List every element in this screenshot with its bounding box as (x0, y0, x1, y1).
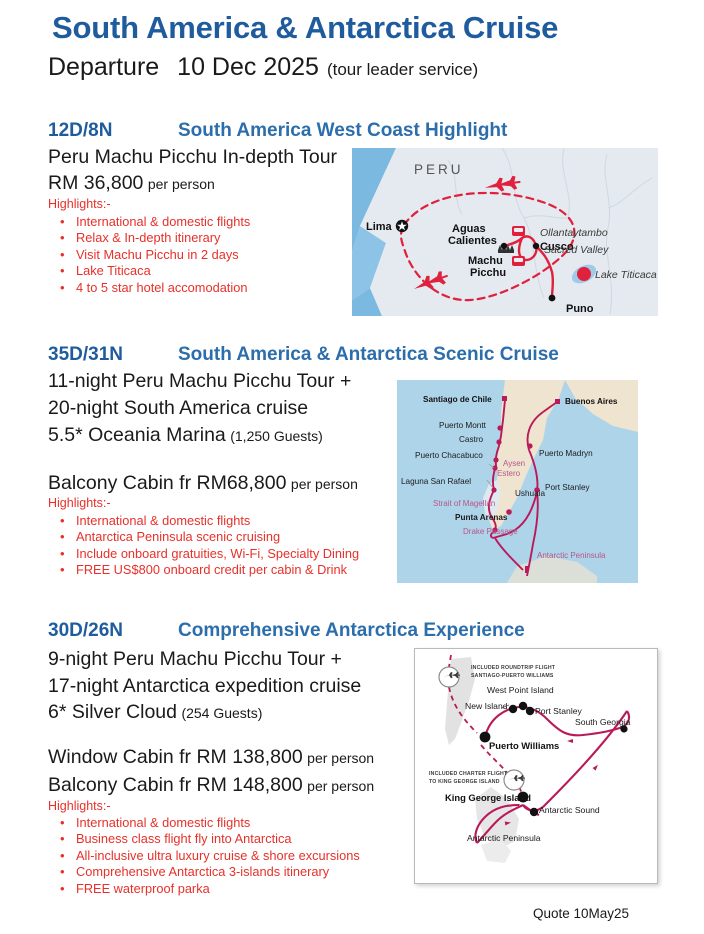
tour-line: 20-night South America cruise (48, 397, 308, 419)
map-label-puerto-madryn: Puerto Madryn (539, 449, 593, 458)
section-1-heading: 12D/8NSouth America West Coast Highlight (48, 120, 507, 142)
section-2-line-3: 5.5* Oceania Marina (1,250 Guests) (48, 424, 323, 447)
list-item: Relax & In-depth itinerary (76, 230, 250, 246)
tour-line: 11-night Peru Machu Picchu Tour + (48, 370, 351, 392)
section-1-line-2: RM 36,800 per person (48, 172, 215, 195)
tour-line: 9-night Peru Machu Picchu Tour + (48, 648, 342, 670)
map-peru: Lima Aguas Calientes Machu Picchu Cusco … (352, 148, 658, 316)
map-label-lima: Lima (366, 221, 393, 233)
departure-line: Departure10 Dec 2025(tour leader service… (48, 53, 478, 82)
map-note-roundtrip-1: INCLUDED ROUNDTRIP FLIGHT (471, 665, 556, 671)
list-item: International & domestic flights (76, 214, 250, 230)
map-label-ollantaytambo: Ollantaytambo (540, 227, 608, 239)
list-item: Include onboard gratuities, Wi-Fi, Speci… (76, 546, 359, 562)
list-item: FREE waterproof parka (76, 881, 360, 897)
list-item: Visit Machu Picchu in 2 days (76, 247, 250, 263)
list-item: Lake Titicaca (76, 263, 250, 279)
brochure-page: South America & Antarctica Cruise Depart… (0, 0, 704, 934)
section-3-line-2: 17-night Antarctica expedition cruise (48, 675, 361, 698)
list-item: Antarctica Peninsula scenic cruising (76, 529, 359, 545)
map-label-peru: PERU (414, 162, 464, 177)
list-item: FREE US$800 onboard credit per cabin & D… (76, 562, 359, 578)
map-label-punta-arenas: Punta Arenas (455, 513, 508, 522)
map-label-antarctic-sound: Antarctic Sound (539, 805, 600, 815)
price-unit: per person (307, 750, 374, 766)
price-unit: per person (148, 176, 215, 192)
map-label-puerto-williams: Puerto Williams (489, 740, 559, 751)
price-value: Balcony Cabin fr RM68,800 (48, 472, 286, 494)
map-label-laguna-san-rafael: Laguna San Rafael (401, 477, 471, 486)
departure-label: Departure (48, 53, 159, 81)
map-note-charter-2: TO KING GEORGE ISLAND (429, 779, 500, 785)
list-item: 4 to 5 star hotel accomodation (76, 280, 250, 296)
list-item: Business class flight fly into Antarctic… (76, 831, 360, 847)
section-3-highlights-list: International & domestic flights Busines… (54, 815, 360, 897)
price-value: RM 36,800 (48, 172, 143, 194)
map-antarctica-expedition: INCLUDED ROUNDTRIP FLIGHT SANTIAGO-PUERT… (414, 648, 658, 884)
map-south-america: Santiago de Chile Buenos Aires Puerto Mo… (397, 380, 638, 583)
list-item: All-inclusive ultra luxury cruise & shor… (76, 848, 360, 864)
map-label-castro: Castro (459, 435, 484, 444)
ship-name: 6* Silver Cloud (48, 701, 177, 723)
tour-line: 17-night Antarctica expedition cruise (48, 675, 361, 697)
section-3-highlights-label: Highlights:- (48, 799, 111, 813)
ship-capacity: (1,250 Guests) (230, 428, 323, 444)
price-unit: per person (291, 476, 358, 492)
section-1-line-1: Peru Machu Picchu In-depth Tour (48, 146, 337, 169)
price-unit: per person (307, 778, 374, 794)
map-label-machu: Machu (468, 255, 503, 267)
map-label-puno: Puno (566, 303, 594, 315)
section-3-name: Comprehensive Antarctica Experience (178, 620, 525, 641)
page-title: South America & Antarctica Cruise (52, 10, 558, 46)
map-label-aysen: Aysen (503, 459, 525, 468)
map-label-south-georgia: South Georgia (575, 717, 631, 727)
map-label-port-stanley: Port Stanley (535, 706, 583, 716)
map-label-antarctic-peninsula: Antarctic Peninsula (467, 833, 541, 843)
section-3-price-line-2: Balcony Cabin fr RM 148,800 per person (48, 774, 374, 797)
section-2-name: South America & Antarctica Scenic Cruise (178, 344, 559, 365)
map-label-west-point-island: West Point Island (487, 685, 554, 695)
price-value: Balcony Cabin fr RM 148,800 (48, 774, 303, 796)
list-item: International & domestic flights (76, 513, 359, 529)
map-label-new-island: New Island (465, 701, 508, 711)
map-label-king-george-island: King George Island (445, 792, 531, 803)
map-label-ushuaia: Ushuaia (515, 489, 545, 498)
section-1-name: South America West Coast Highlight (178, 120, 507, 141)
section-3-line-3: 6* Silver Cloud (254 Guests) (48, 701, 262, 724)
section-1-duration: 12D/8N (48, 120, 178, 142)
map-label-santiago: Santiago de Chile (423, 395, 492, 404)
map-label-buenos-aires: Buenos Aires (565, 397, 618, 406)
section-3-heading: 30D/26NComprehensive Antarctica Experien… (48, 620, 525, 642)
map-label-strait-of-magellan: Strait of Magellan (433, 499, 495, 508)
map-label-antarctic-peninsula: Antarctic Peninsula (537, 551, 606, 560)
map-label-aguas: Aguas (452, 223, 486, 235)
service-note: (tour leader service) (327, 60, 478, 79)
quote-reference: Quote 10May25 (533, 906, 629, 921)
ship-capacity: (254 Guests) (181, 705, 262, 721)
section-2-line-2: 20-night South America cruise (48, 397, 308, 420)
section-3-duration: 30D/26N (48, 620, 178, 642)
list-item: International & domestic flights (76, 815, 360, 831)
list-item: Comprehensive Antarctica 3-islands itine… (76, 864, 360, 880)
map-label-puerto-montt: Puerto Montt (439, 421, 487, 430)
map-note-roundtrip-2: SANTIAGO-PUERTO WILLIAMS (471, 673, 554, 679)
section-3-price-line-1: Window Cabin fr RM 138,800 per person (48, 746, 374, 769)
departure-date: 10 Dec 2025 (177, 53, 319, 81)
section-2-highlights-label: Highlights:- (48, 496, 111, 510)
price-value: Window Cabin fr RM 138,800 (48, 746, 303, 768)
map-label-sacred-valley: Sacred Valley (544, 244, 609, 256)
section-2-heading: 35D/31NSouth America & Antarctica Scenic… (48, 344, 559, 366)
map-label-estero: Estero (497, 469, 521, 478)
section-2-line-1: 11-night Peru Machu Picchu Tour + (48, 370, 351, 393)
map-label-puerto-chacabuco: Puerto Chacabuco (415, 451, 483, 460)
section-1-highlights-list: International & domestic flights Relax &… (54, 214, 250, 296)
section-3-line-1: 9-night Peru Machu Picchu Tour + (48, 648, 342, 671)
map-label-picchu: Picchu (470, 267, 506, 279)
ship-name: 5.5* Oceania Marina (48, 424, 226, 446)
map-label-calientes: Calientes (448, 235, 497, 247)
map-label-port-stanley: Port Stanley (545, 483, 591, 492)
map-label-lake-titicaca: Lake Titicaca (595, 269, 657, 281)
section-2-price-line: Balcony Cabin fr RM68,800 per person (48, 472, 358, 495)
section-2-duration: 35D/31N (48, 344, 178, 366)
section-2-highlights-list: International & domestic flights Antarct… (54, 513, 359, 579)
tour-title: Peru Machu Picchu In-depth Tour (48, 146, 337, 168)
map-label-drake-passage: Drake Passage (463, 527, 518, 536)
section-1-highlights-label: Highlights:- (48, 197, 111, 211)
map-note-charter-1: INCLUDED CHARTER FLIGHT (429, 771, 508, 777)
